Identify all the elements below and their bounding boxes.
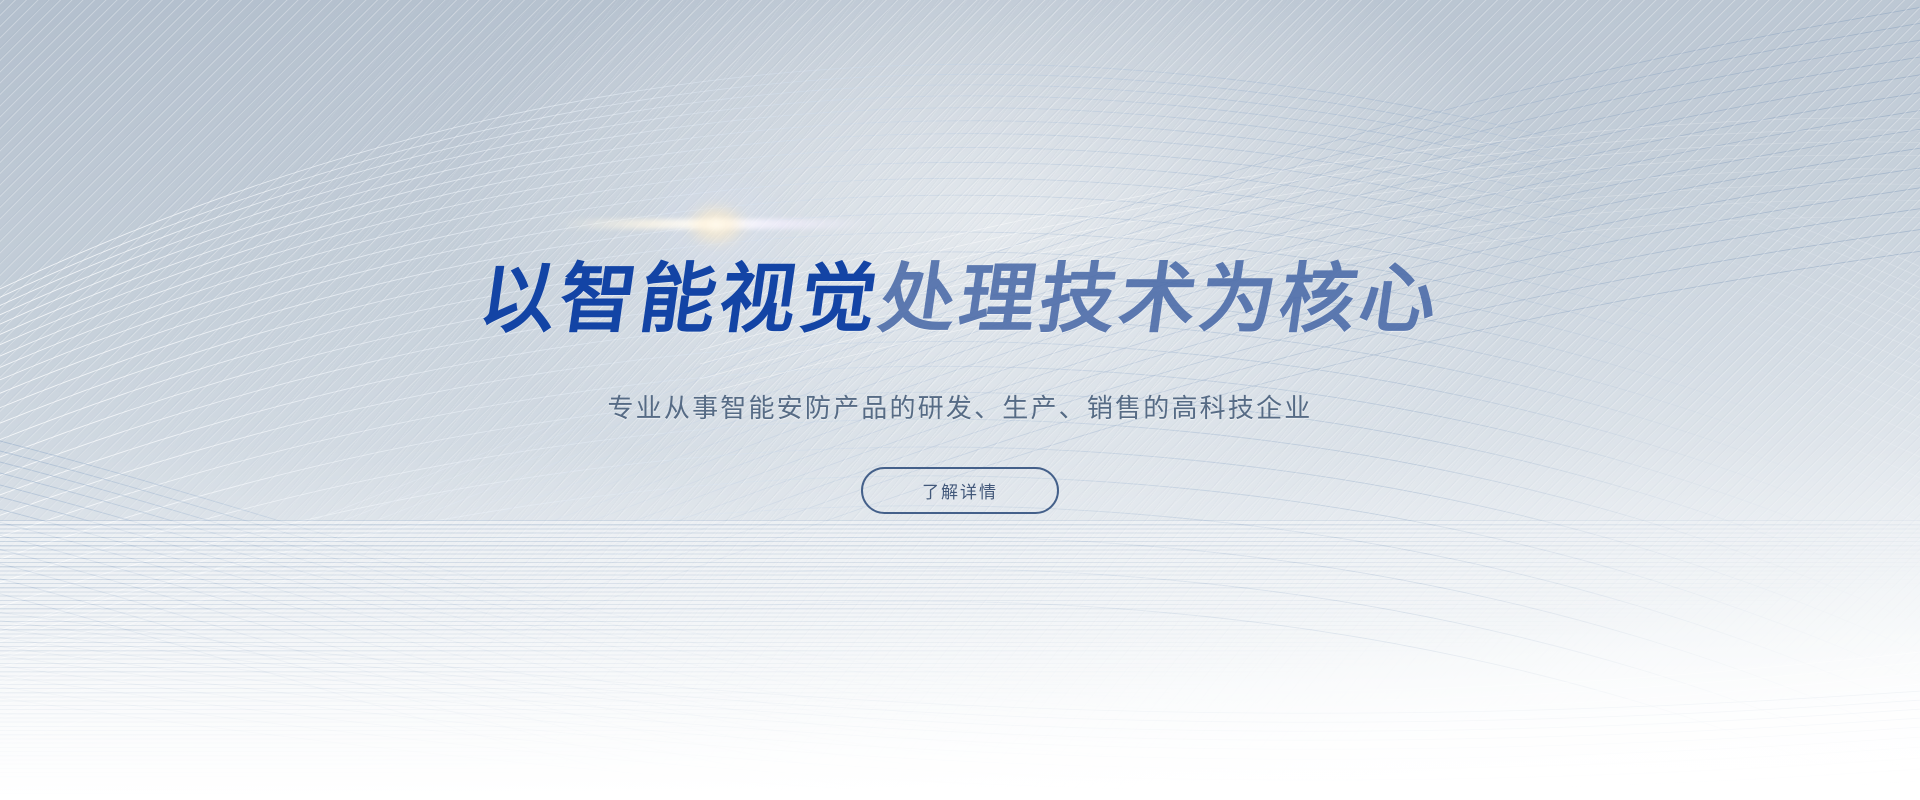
page-title: 以智能视觉处理技术为核心 bbox=[474, 258, 1446, 342]
hero-banner: 以智能视觉处理技术为核心 专业从事智能安防产品的研发、生产、销售的高科技企业 了… bbox=[0, 0, 1920, 800]
hero-content: 以智能视觉处理技术为核心 专业从事智能安防产品的研发、生产、销售的高科技企业 了… bbox=[0, 0, 1920, 800]
learn-more-button[interactable]: 了解详情 bbox=[861, 467, 1059, 514]
page-title-strong: 以智能视觉 bbox=[474, 257, 886, 342]
hero-subtitle: 专业从事智能安防产品的研发、生产、销售的高科技企业 bbox=[607, 388, 1312, 425]
cta-wrapper: 了解详情 bbox=[861, 467, 1059, 514]
page-title-soft: 处理技术为核心 bbox=[874, 257, 1446, 342]
